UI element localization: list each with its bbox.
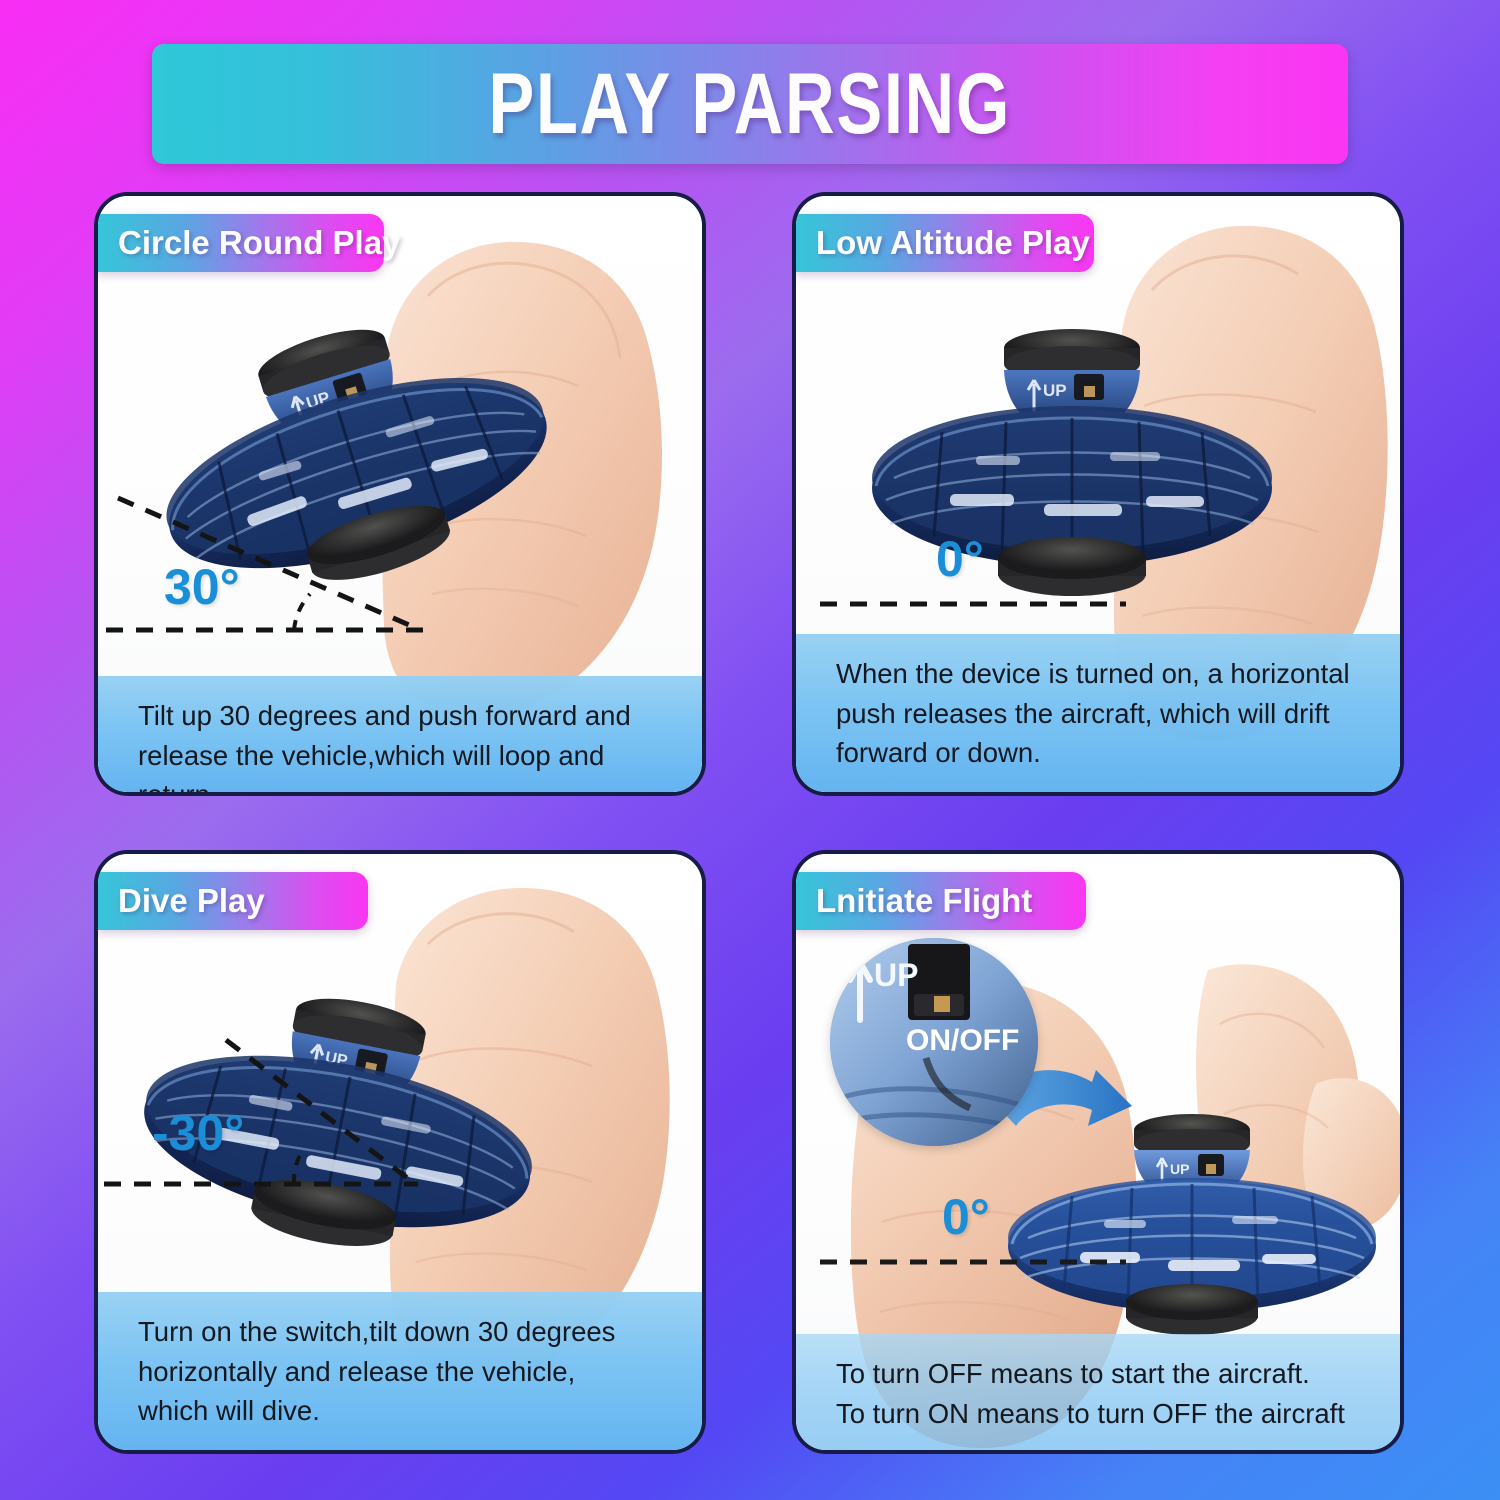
panel-dive-play[interactable]: UP ON/OFF [94, 850, 706, 1454]
panel-badge-label: Circle Round Play [118, 224, 400, 262]
switch-closeup-inset: UP ON/OFF [830, 938, 1038, 1146]
panel-low-altitude-play[interactable]: UP ON/OFF [792, 192, 1404, 796]
page-title: PLAY PARSING [489, 55, 1012, 154]
panel-caption: When the device is turned on, a horizont… [796, 634, 1400, 792]
angle-label: 0° [936, 530, 984, 588]
panel-badge-label: Dive Play [118, 882, 265, 920]
caption-line: which will dive. [138, 1391, 668, 1431]
caption-line: Tilt up 30 degrees and push forward and [138, 696, 668, 736]
panel-initiate-flight[interactable]: UP ON/OFF [792, 850, 1404, 1454]
header-banner: PLAY PARSING [152, 44, 1348, 164]
header-bar: PLAY PARSING [152, 44, 1348, 164]
caption-line: When the device is turned on, a horizont… [836, 654, 1366, 694]
panel-caption: Turn on the switch,tilt down 30 degrees … [98, 1292, 702, 1450]
inset-up-label: UP [874, 957, 918, 993]
caption-line: push releases the aircraft, which will d… [836, 694, 1366, 734]
angle-label: -30° [152, 1104, 244, 1162]
panel-photo-stage: UP ON/OFF [98, 196, 702, 792]
caption-line: horizontally and release the vehicle, [138, 1352, 668, 1392]
caption-line: Turn on the switch,tilt down 30 degrees [138, 1312, 668, 1352]
panel-circle-round-play[interactable]: UP ON/OFF [94, 192, 706, 796]
panel-caption: Tilt up 30 degrees and push forward and … [98, 676, 702, 792]
press-switch-arrow-icon [796, 854, 1400, 1450]
panel-badge-initiate-flight[interactable]: Lnitiate Flight [794, 872, 1086, 930]
panel-badge-label: Lnitiate Flight [816, 882, 1032, 920]
caption-line: forward or down. [836, 733, 1366, 773]
panel-photo-stage: UP ON/OFF [796, 196, 1400, 792]
caption-line: release the vehicle,which will loop and … [138, 736, 668, 796]
angle-label: 30° [164, 558, 240, 616]
panel-grid: UP ON/OFF [0, 186, 1500, 1476]
inset-onoff-label: ON/OFF [906, 1024, 1019, 1057]
panel-badge-low-altitude-play[interactable]: Low Altitude Play [794, 214, 1094, 272]
panel-photo-stage: UP ON/OFF [796, 854, 1400, 1450]
panel-badge-dive-play[interactable]: Dive Play [96, 872, 368, 930]
panel-badge-circle-round-play[interactable]: Circle Round Play [96, 214, 384, 272]
panel-photo-stage: UP ON/OFF [98, 854, 702, 1450]
panel-badge-label: Low Altitude Play [816, 224, 1090, 262]
